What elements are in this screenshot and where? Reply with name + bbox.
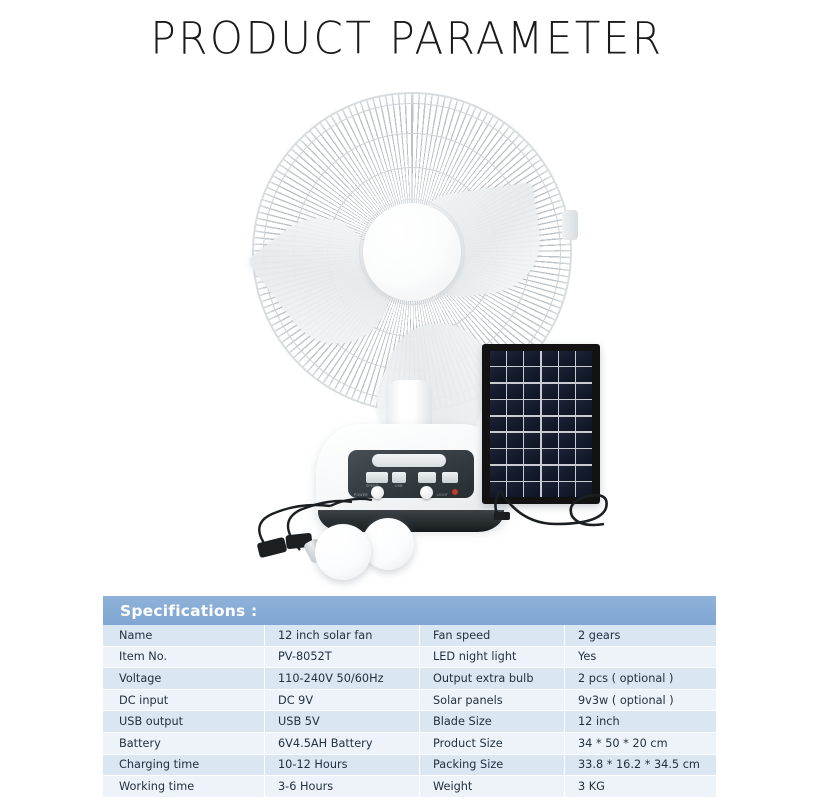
spec-value: 3 KG [565,776,716,797]
spec-label: DC input [103,690,265,711]
spec-label: Charging time [103,755,265,776]
spec-value: USB 5V [265,711,420,732]
spec-label: Weight [420,776,565,797]
spec-value: 34 * 50 * 20 cm [565,733,716,754]
cables-graphic [0,72,814,592]
spec-value: 6V4.5AH Battery [265,733,420,754]
specifications-table: Specifications : Name12 inch solar fanFa… [103,596,716,798]
spec-label: Output extra bulb [420,668,565,689]
table-row: Item No.PV-8052TLED night lightYes [103,647,716,669]
specifications-header: Specifications : [103,596,716,625]
spec-value: 33.8 * 16.2 * 34.5 cm [565,755,716,776]
table-row: Voltage110-240V 50/60HzOutput extra bulb… [103,668,716,690]
spec-value: 2 pcs ( optional ) [565,668,716,689]
spec-label: Item No. [103,647,265,668]
spec-label: Packing Size [420,755,565,776]
table-row: Battery6V4.5AH BatteryProduct Size34 * 5… [103,733,716,755]
spec-value: 110-240V 50/60Hz [265,668,420,689]
spec-label: Voltage [103,668,265,689]
specifications-body: Name12 inch solar fanFan speed2 gearsIte… [103,625,716,798]
spec-label: Battery [103,733,265,754]
table-row: USB outputUSB 5VBlade Size12 inch [103,711,716,733]
spec-value: 3-6 Hours [265,776,420,797]
spec-value: 10-12 Hours [265,755,420,776]
spec-value: DC 9V [265,690,420,711]
spec-label: Working time [103,776,265,797]
table-row: DC inputDC 9VSolar panels9v3w ( optional… [103,690,716,712]
table-row: Name12 inch solar fanFan speed2 gears [103,625,716,647]
spec-label: Product Size [420,733,565,754]
led-bulb [315,524,371,580]
table-row: Working time3-6 HoursWeight3 KG [103,776,716,798]
spec-label: Blade Size [420,711,565,732]
spec-value: 2 gears [565,625,716,646]
spec-value: 12 inch [565,711,716,732]
spec-value: 9v3w ( optional ) [565,690,716,711]
specifications-header-label: Specifications : [120,602,257,620]
spec-label: USB output [103,711,265,732]
spec-label: Fan speed [420,625,565,646]
spec-value: Yes [565,647,716,668]
spec-value: PV-8052T [265,647,420,668]
spec-label: LED night light [420,647,565,668]
page-title: PRODUCT PARAMETER [0,12,814,64]
product-image: POWER USB LIGHT SPEED [0,72,814,592]
spec-label: Name [103,625,265,646]
spec-value: 12 inch solar fan [265,625,420,646]
spec-label: Solar panels [420,690,565,711]
table-row: Charging time10-12 HoursPacking Size33.8… [103,755,716,777]
